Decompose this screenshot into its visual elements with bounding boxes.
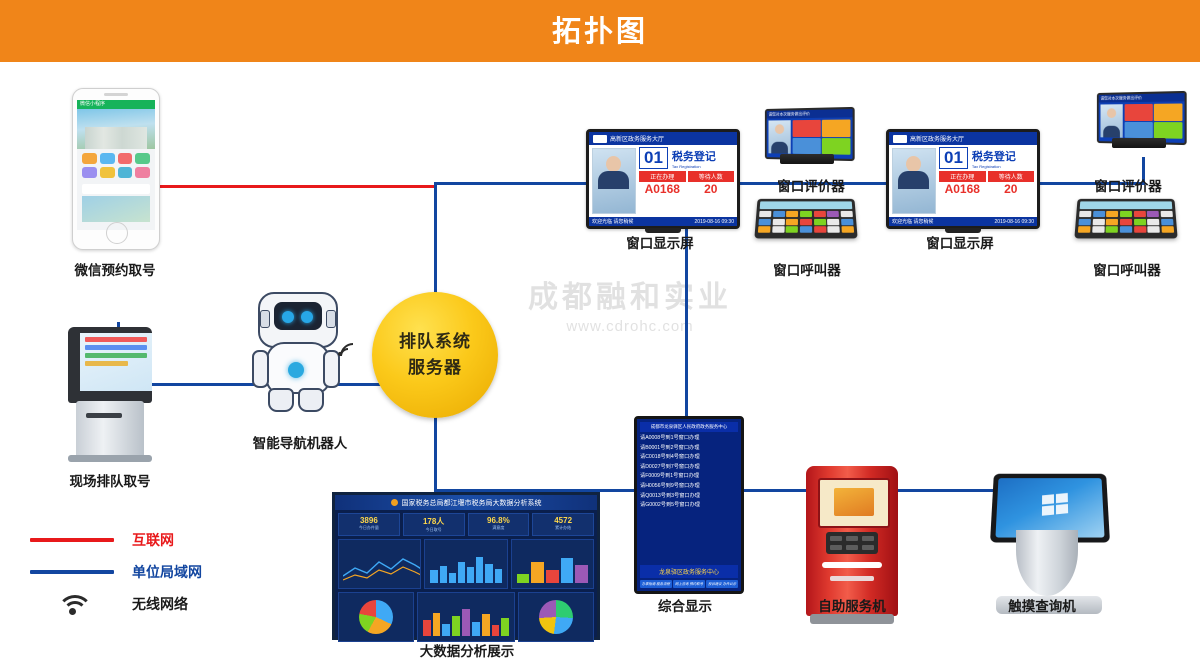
link-lan-server-up [434, 182, 437, 297]
pie-chart-right [539, 600, 573, 634]
call-row: 请D0027号到7号窗口办理 [640, 463, 738, 473]
call-row: 请Q0013号到3号窗口办理 [640, 492, 738, 502]
display-right-header: 高新区政务服务大厅 [889, 132, 1037, 145]
bigdata-kpi-1: 178人今日取号 [403, 513, 465, 536]
display-left-footer: 欢迎光临 请您稍候 2019-08-16 09:30 [589, 217, 737, 226]
bigdata-kpi-2: 96.8%满意度 [468, 513, 530, 536]
legend-item-wireless: 无线网络 [30, 588, 260, 620]
display-right-info: 01 税务登记 Tax Registration 正在办理 等待人数 A0168… [939, 145, 1037, 217]
footer-tile: 网上咨询 预约取号 [673, 580, 705, 588]
label-onsite-kiosk: 现场排队取号 [25, 470, 195, 490]
kiosk-body [76, 401, 144, 459]
comprehensive-header: 成都市龙泉驿区人民政府政务服务中心 [640, 422, 738, 432]
bigdata-gauge-card [511, 539, 594, 589]
display-left-footer-left: 欢迎光临 请您稍候 [592, 218, 633, 225]
call-row: 请B0001号到2号窗口办理 [640, 444, 738, 454]
evaluator-right-base [1112, 138, 1166, 148]
display-right-window-number: 01 [939, 147, 968, 169]
bigdata-pie-chart-right [518, 592, 594, 642]
bigdata-chart-row-2 [335, 592, 597, 645]
page-title: 拓扑图 [0, 0, 1200, 62]
evaluator-right-portrait [1101, 104, 1123, 137]
call-row: 请C0018号到4号窗口办理 [640, 453, 738, 463]
watermark-line2: www.cdrohc.com [480, 318, 780, 335]
phone-app-title: 微信小程序 [77, 100, 155, 109]
call-row: 请A0008号到1号窗口办理 [640, 434, 738, 444]
phone-hero-image [77, 109, 155, 149]
kiosk-base [68, 455, 152, 462]
display-left-service-title-en: Tax Registration [672, 164, 716, 169]
display-left-body: 01 税务登记 Tax Registration 正在办理 等待人数 A0168… [589, 145, 737, 217]
phone-strip-1 [82, 184, 150, 194]
display-left-waiting-label: 等待人数 [688, 171, 735, 182]
footer-tile: 办事指南 服务流程 [640, 580, 672, 588]
window-display-right: 高新区政务服务大厅 01 税务登记 Tax Registration 正在 [886, 129, 1040, 229]
display-left-ticket: A0168 [639, 182, 686, 196]
display-right-processing-label: 正在办理 [939, 171, 986, 182]
watermark: 成都融和实业 www.cdrohc.com [480, 272, 780, 335]
label-bigdata: 大数据分析展示 [382, 640, 552, 660]
display-left-info: 01 税务登记 Tax Registration 正在办理 等待人数 A0168… [639, 145, 737, 217]
robot-chest-light [288, 362, 304, 378]
robot-ear-right [326, 310, 336, 328]
phone-screen: 微信小程序 [77, 100, 155, 230]
ssm-base [810, 614, 894, 624]
kiosk-screen-rows [80, 333, 152, 373]
wechat-phone: 微信小程序 [72, 88, 160, 250]
display-right-waiting-count: 20 [988, 182, 1035, 196]
robot-ear-left [260, 310, 270, 328]
server-label-line2: 服务器 [408, 355, 462, 381]
display-right-service-title-en: Tax Registration [972, 164, 1016, 169]
bigdata-kpi-0: 3896今日办件量 [338, 513, 400, 536]
display-right-portrait [892, 148, 936, 214]
evaluator-left-portrait [769, 120, 791, 153]
link-internet-phone-horizontal [117, 185, 437, 188]
comprehensive-display: 成都市龙泉驿区人民政府政务服务中心 请A0008号到1号窗口办理 请B0001号… [634, 416, 744, 594]
comprehensive-inner: 成都市龙泉驿区人民政府政务服务中心 请A0008号到1号窗口办理 请B0001号… [637, 419, 741, 591]
bigdata-kpi-row: 3896今日办件量 178人今日取号 96.8%满意度 4572累计办结 [335, 510, 597, 539]
touch-kiosk-column [1016, 530, 1078, 596]
display-left-window-number: 01 [639, 147, 668, 169]
evaluator-left-screen[interactable]: 请您对本次服务做出评价 [765, 107, 855, 161]
legend-internet-line-icon [30, 538, 114, 542]
phone-app-grid [77, 149, 155, 182]
robot-eye-right [301, 311, 313, 323]
display-right-service-title: 税务登记 Tax Registration [972, 148, 1016, 169]
display-left-footer-right: 2019-08-16 09:30 [695, 219, 734, 225]
display-left-header: 高新区政务服务大厅 [589, 132, 737, 145]
caller-left-pad[interactable] [754, 199, 857, 239]
kiosk-head [68, 327, 152, 403]
robot-leg-right [298, 388, 324, 412]
phone-banner [82, 196, 150, 222]
label-touch-inquiry: 触摸查询机 [962, 595, 1122, 615]
gauge-bars [517, 553, 588, 583]
call-row: 请G0002号到5号窗口办理 [640, 501, 738, 511]
window-display-left: 高新区政务服务大厅 01 税务登记 Tax Registration 正在 [586, 129, 740, 229]
touch-kiosk-screen[interactable] [995, 478, 1104, 537]
bigdata-bar-chart-wide [417, 592, 515, 642]
kiosk-ticket-slot [86, 413, 122, 418]
robot-leg-left [268, 388, 294, 412]
legend: 互联网 单位局域网 无线网络 [30, 524, 260, 620]
display-right-header-text: 高新区政务服务大厅 [910, 134, 964, 143]
window-caller-left[interactable] [756, 192, 860, 248]
evaluator-left-buttons[interactable] [793, 119, 851, 154]
display-left-logo-icon [593, 135, 607, 143]
display-left-waiting-count: 20 [688, 182, 735, 196]
robot-face [274, 302, 322, 330]
display-right-footer-left: 欢迎光临 请您稍候 [892, 218, 933, 225]
legend-wifi-icon [30, 593, 114, 615]
bigdata-line-chart [338, 539, 421, 589]
ssm-keypad[interactable] [826, 532, 878, 554]
comprehensive-banner: 龙泉驿区政务服务中心 [640, 565, 738, 578]
label-wechat: 微信预约取号 [30, 259, 200, 279]
bar-chart-small-bars [430, 553, 501, 583]
call-row: 请F0009号到1号窗口办理 [640, 472, 738, 482]
display-right-inner: 高新区政务服务大厅 01 税务登记 Tax Registration 正在 [889, 132, 1037, 226]
label-self-service: 自助服务机 [782, 595, 922, 615]
display-left-inner: 高新区政务服务大厅 01 税务登记 Tax Registration 正在 [589, 132, 737, 226]
robot-arm-left [252, 350, 269, 388]
caller-right-keys[interactable] [1078, 211, 1174, 233]
server-label-line1: 排队系统 [399, 329, 471, 355]
caller-left-lcd [760, 201, 853, 209]
kiosk-screen [80, 333, 152, 391]
bigdata-title: 国家税务总局都江堰市税务局大数据分析系统 [402, 498, 542, 508]
caller-right-lcd [1080, 201, 1173, 209]
evaluator-right-screen[interactable]: 请您对本次服务做出评价 [1097, 91, 1187, 145]
display-right-waiting-label: 等待人数 [988, 171, 1035, 182]
legend-internet-label: 互联网 [132, 530, 174, 550]
phone-speaker [104, 93, 128, 96]
bigdata-emblem-icon [391, 499, 398, 506]
navigation-robot [250, 292, 342, 412]
bigdata-title-bar: 国家税务总局都江堰市税务局大数据分析系统 [335, 495, 597, 510]
line-chart-svg [343, 556, 421, 582]
display-right-ticket: A0168 [939, 182, 986, 196]
display-right-footer: 欢迎光临 请您稍候 2019-08-16 09:30 [889, 217, 1037, 226]
label-caller-right: 窗口呼叫器 [1052, 259, 1200, 279]
bigdata-bar-chart-small [424, 539, 507, 589]
link-lan-server-down [434, 414, 437, 490]
display-left-processing-label: 正在办理 [639, 171, 686, 182]
caller-right-pad[interactable] [1074, 199, 1177, 239]
window-caller-right[interactable] [1076, 192, 1180, 248]
label-robot: 智能导航机器人 [205, 432, 395, 452]
display-left-header-text: 高新区政务服务大厅 [610, 134, 664, 143]
robot-eye-left [282, 311, 294, 323]
label-display-right: 窗口显示屏 [880, 232, 1040, 252]
pie-chart-left [359, 600, 393, 634]
bigdata-kpi-3: 4572累计办结 [532, 513, 594, 536]
ssm-receipt-slot [830, 576, 874, 581]
queue-system-server: 排队系统 服务器 [372, 292, 498, 418]
legend-item-lan: 单位局域网 [30, 556, 260, 588]
evaluator-right-buttons[interactable] [1125, 103, 1183, 138]
footer-tile: 投诉建议 办件公示 [706, 580, 738, 588]
comprehensive-call-list: 请A0008号到1号窗口办理 请B0001号到2号窗口办理 请C0018号到4号… [640, 434, 738, 563]
legend-lan-label: 单位局域网 [132, 562, 202, 582]
bigdata-analytics-board: 国家税务总局都江堰市税务局大数据分析系统 3896今日办件量 178人今日取号 … [332, 492, 600, 640]
bigdata-chart-row-1 [335, 539, 597, 592]
ssm-card-slot [822, 562, 882, 568]
bigdata-pie-chart-left [338, 592, 414, 642]
page-header: 拓扑图 [0, 0, 1200, 62]
display-right-footer-right: 2019-08-16 09:30 [995, 219, 1034, 225]
window-evaluator-right[interactable]: 请您对本次服务做出评价 [1094, 92, 1186, 154]
phone-home-button[interactable] [106, 222, 128, 244]
label-caller-left: 窗口呼叫器 [732, 259, 882, 279]
window-evaluator-left[interactable]: 请您对本次服务做出评价 [762, 108, 854, 170]
legend-wireless-label: 无线网络 [132, 594, 188, 614]
display-left-service-title: 税务登记 Tax Registration [672, 148, 716, 169]
ssm-cabinet [806, 466, 898, 616]
bar-chart-wide-bars [423, 606, 509, 636]
display-right-logo-icon [893, 135, 907, 143]
wireless-signal-icon [338, 340, 368, 370]
legend-lan-line-icon [30, 570, 114, 574]
onsite-queue-kiosk [62, 327, 158, 462]
label-comprehensive: 综合显示 [620, 595, 750, 615]
display-left-portrait [592, 148, 636, 214]
legend-item-internet: 互联网 [30, 524, 260, 556]
comprehensive-footer-tiles: 办事指南 服务流程 网上咨询 预约取号 投诉建议 办件公示 [640, 580, 738, 588]
caller-left-keys[interactable] [758, 211, 854, 233]
display-right-body: 01 税务登记 Tax Registration 正在办理 等待人数 A0168… [889, 145, 1037, 217]
robot-head [258, 292, 338, 348]
topology-canvas: 成都融和实业 www.cdrohc.com 微信小程序 [0, 62, 1200, 621]
ssm-screen[interactable] [818, 478, 890, 528]
evaluator-left-base [780, 154, 834, 164]
label-display-left: 窗口显示屏 [580, 232, 740, 252]
call-row: 请H0056号到9号窗口办理 [640, 482, 738, 492]
